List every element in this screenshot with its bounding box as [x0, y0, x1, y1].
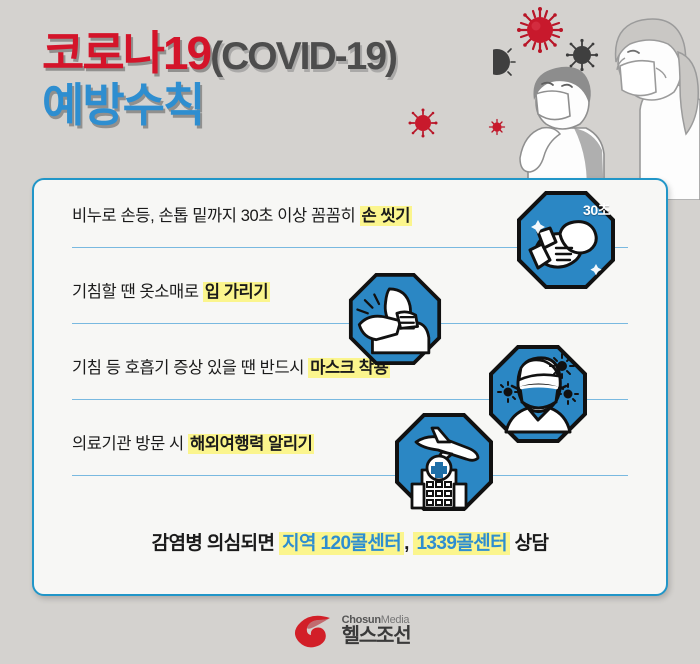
- title-line-primary: 코로나19(COVID-19): [42, 30, 396, 76]
- guideline-highlight-1: 손 씻기: [360, 206, 413, 226]
- face-mask-icon: [488, 344, 588, 444]
- guideline-text-4: 의료기관 방문 시 해외여행력 알리기: [72, 430, 314, 454]
- guideline-highlight-4: 해외여행력 알리기: [188, 434, 314, 454]
- guideline-text-3: 기침 등 호흡기 증상 있을 땐 반드시 마스크 착용: [72, 354, 390, 378]
- brand-logo: ChosunMedia 헬스조선: [0, 612, 700, 650]
- brand-name-korean: 헬스조선: [342, 626, 411, 647]
- chosun-swoosh-icon: [290, 612, 334, 650]
- row-divider: [72, 475, 628, 477]
- callout-tail: 상담: [515, 533, 549, 554]
- guideline-plain-4: 의료기관 방문 시: [72, 435, 184, 453]
- duration-badge: 30초: [583, 200, 610, 220]
- title-korean: 코로나19: [42, 27, 210, 79]
- title-line-secondary: 예방수칙: [42, 82, 396, 128]
- virus-particle-large-red: [516, 6, 564, 54]
- guideline-plain-1: 비누로 손등, 손톱 밑까지 30초 이상 꼼꼼히: [72, 207, 355, 225]
- callout-separator: ,: [404, 533, 409, 554]
- guideline-plain-3: 기침 등 호흡기 증상 있을 땐 반드시: [72, 359, 304, 377]
- airplane-hospital-icon: [394, 412, 494, 512]
- emergency-callout: 감염병 의심되면 지역 120콜센터, 1339콜센터 상담: [34, 528, 666, 555]
- guideline-text-1: 비누로 손등, 손톱 밑까지 30초 이상 꼼꼼히 손 씻기: [72, 202, 412, 226]
- title-english: (COVID-19): [210, 35, 396, 78]
- title-subtitle: 예방수칙: [42, 79, 203, 131]
- page-title: 코로나19(COVID-19) 예방수칙: [42, 30, 396, 128]
- virus-particle-medium-red: [408, 108, 438, 138]
- virus-particle-dark: [565, 38, 599, 72]
- brand-text: ChosunMedia 헬스조선: [342, 615, 411, 648]
- handwashing-icon: 30초: [516, 190, 616, 290]
- callout-hotline-2: 1339콜센터: [413, 532, 510, 555]
- brand-bold: Chosun: [342, 614, 381, 626]
- virus-particle-small-red: [488, 118, 506, 136]
- guideline-text-2: 기침할 땐 옷소매로 입 가리기: [72, 278, 270, 302]
- guideline-highlight-2: 입 가리기: [203, 282, 270, 302]
- cough-into-sleeve-icon: [348, 272, 442, 366]
- guideline-plain-2: 기침할 땐 옷소매로: [72, 283, 199, 301]
- virus-particle-edge-dark: [493, 42, 519, 82]
- callout-hotline-1: 지역 120콜센터: [279, 532, 404, 555]
- infographic-stage: 코로나19(COVID-19) 예방수칙 비누로 손등, 손톱 밑까지 30초 …: [0, 0, 700, 664]
- callout-lead: 감염병 의심되면: [152, 533, 275, 554]
- brand-light: Media: [381, 614, 409, 626]
